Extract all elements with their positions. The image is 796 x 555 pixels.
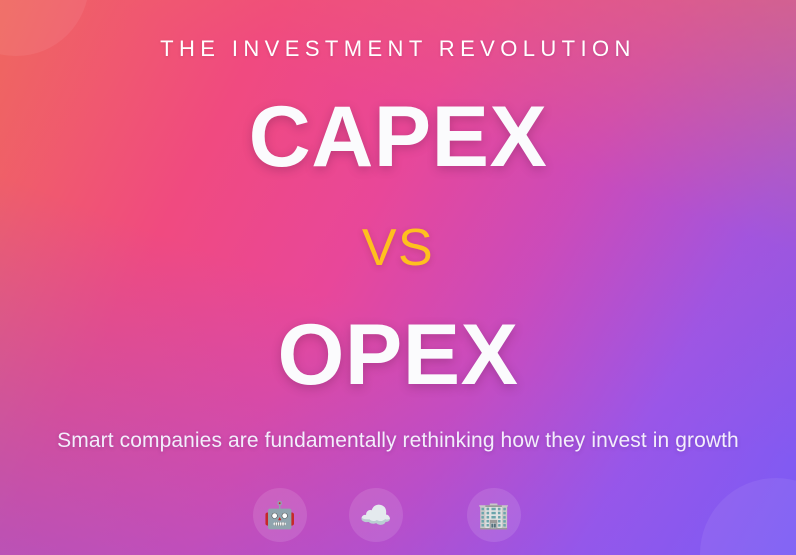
cloud-icon: ☁️ xyxy=(349,488,403,542)
badge-raas: 🤖 RAAS xyxy=(253,488,307,555)
versus-separator: VS xyxy=(362,222,434,274)
category-badge-list: 🤖 RAAS ☁️ SAAS 🏢 REAL ESTATE xyxy=(253,488,543,555)
headline-capex: CAPEX xyxy=(249,94,548,180)
office-building-icon: 🏢 xyxy=(467,488,521,542)
badge-saas: ☁️ SAAS xyxy=(349,488,403,555)
robot-icon: 🤖 xyxy=(253,488,307,542)
headline-opex: OPEX xyxy=(278,312,519,398)
presentation-slide: THE INVESTMENT REVOLUTION CAPEX VS OPEX … xyxy=(0,0,796,555)
slide-eyebrow-text: THE INVESTMENT REVOLUTION xyxy=(160,38,636,60)
slide-subtitle: Smart companies are fundamentally rethin… xyxy=(57,428,739,453)
slide-content: THE INVESTMENT REVOLUTION CAPEX VS OPEX … xyxy=(0,0,796,555)
badge-real-estate: 🏢 REAL ESTATE xyxy=(445,488,543,555)
